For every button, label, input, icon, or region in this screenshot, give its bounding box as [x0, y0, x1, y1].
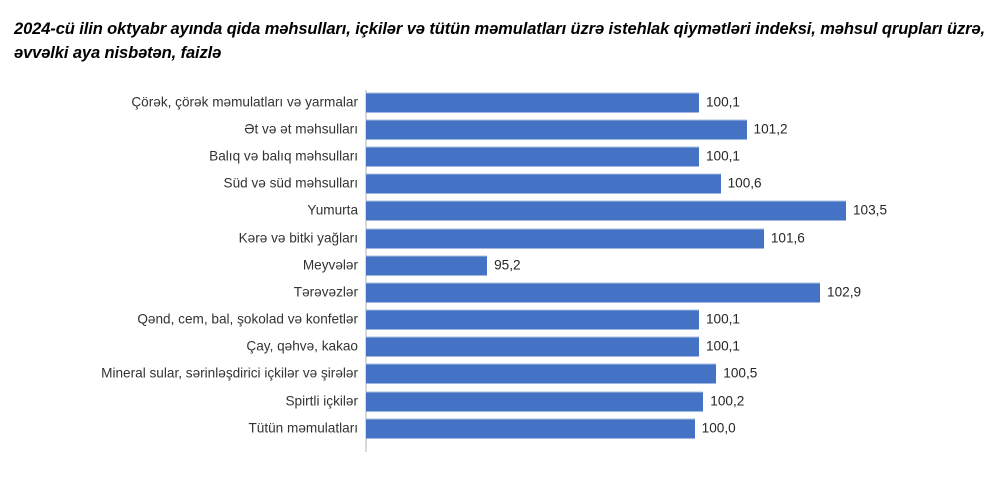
bar-row: Süd və süd məhsulları100,6	[0, 170, 1000, 197]
bar-row: Qənd, cem, bal, şokolad və konfetlər100,…	[0, 306, 1000, 333]
bar-row: Meyvələr95,2	[0, 251, 1000, 278]
bar-value-label: 100,2	[710, 393, 744, 408]
bar-value-label: 100,1	[706, 339, 740, 354]
chart-page: 2024-cü ilin oktyabr ayında qida məhsull…	[0, 0, 1000, 477]
bar-value-label: 101,2	[754, 121, 788, 136]
bar[interactable]	[366, 201, 846, 220]
bar[interactable]	[366, 364, 716, 383]
bar[interactable]	[366, 337, 699, 356]
category-label: Süd və süd məhsulları	[224, 176, 359, 191]
category-label: Çay, qəhvə, kakao	[246, 339, 358, 354]
bar[interactable]	[366, 391, 703, 410]
bar-value-label: 95,2	[494, 257, 520, 272]
category-label: Tərəvəzlər	[294, 284, 358, 299]
bar-fill	[366, 337, 699, 357]
category-label: Balıq və balıq məhsulları	[209, 148, 358, 163]
category-label: Mineral sular, sərinləşdirici içkilər və…	[101, 366, 358, 381]
bar-value-label: 100,1	[706, 148, 740, 163]
bar-value-label: 100,6	[728, 176, 762, 191]
bar-fill	[366, 146, 699, 166]
bar[interactable]	[366, 310, 699, 329]
bar[interactable]	[366, 228, 764, 247]
bar-fill	[366, 282, 820, 302]
bar-value-label: 100,1	[706, 312, 740, 327]
page-title: 2024-cü ilin oktyabr ayında qida məhsull…	[14, 18, 986, 66]
bar-row: Kərə və bitki yağları101,6	[0, 224, 1000, 251]
bar-row: Tərəvəzlər102,9	[0, 278, 1000, 305]
category-label: Ət və ət məhsulları	[244, 121, 358, 136]
bar[interactable]	[366, 282, 820, 301]
bar-fill	[366, 418, 695, 438]
bar-row: Yumurta103,5	[0, 197, 1000, 224]
category-label: Çörək, çörək məmulatları və yarmalar	[131, 94, 358, 109]
bar-value-label: 100,1	[706, 94, 740, 109]
bar-value-label: 100,5	[723, 366, 757, 381]
bar-rows: Çörək, çörək məmulatları və yarmalar100,…	[0, 88, 1000, 441]
bar-row: Çörək, çörək məmulatları və yarmalar100,…	[0, 88, 1000, 115]
bar-fill	[366, 174, 721, 194]
bar-fill	[366, 92, 699, 112]
bar-row: Çay, qəhvə, kakao100,1	[0, 333, 1000, 360]
bar-row: Tütün məmulatları100,0	[0, 414, 1000, 441]
category-label: Yumurta	[307, 203, 358, 218]
category-label: Kərə və bitki yağları	[239, 230, 358, 245]
bar-value-label: 102,9	[827, 284, 861, 299]
bar-row: Ət və ət məhsulları101,2	[0, 115, 1000, 142]
category-label: Spirtli içkilər	[285, 393, 358, 408]
category-label: Qənd, cem, bal, şokolad və konfetlər	[137, 312, 358, 327]
bar-fill	[366, 391, 703, 411]
bar[interactable]	[366, 92, 699, 111]
bar-value-label: 103,5	[853, 203, 887, 218]
plot-area: Çörək, çörək məmulatları və yarmalar100,…	[0, 88, 1000, 456]
bar-fill	[366, 255, 487, 275]
bar-row: Balıq və balıq məhsulları100,1	[0, 142, 1000, 169]
bar-fill	[366, 310, 699, 330]
bar[interactable]	[366, 255, 487, 274]
category-label: Meyvələr	[303, 257, 358, 272]
bar[interactable]	[366, 119, 747, 138]
bar[interactable]	[366, 418, 695, 437]
bar-fill	[366, 228, 764, 248]
bar[interactable]	[366, 174, 721, 193]
bar-value-label: 101,6	[771, 230, 805, 245]
category-label: Tütün məmulatları	[248, 420, 358, 435]
bar-row: Mineral sular, sərinləşdirici içkilər və…	[0, 360, 1000, 387]
bar[interactable]	[366, 146, 699, 165]
bar-fill	[366, 201, 846, 221]
bar-fill	[366, 119, 747, 139]
bar-value-label: 100,0	[702, 420, 736, 435]
bar-row: Spirtli içkilər100,2	[0, 387, 1000, 414]
bar-fill	[366, 364, 716, 384]
